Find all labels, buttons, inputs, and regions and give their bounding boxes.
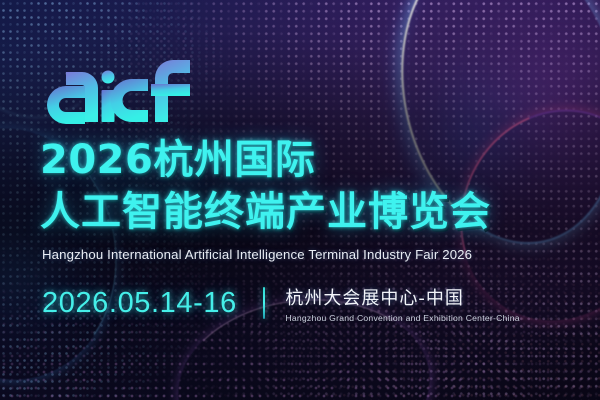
aicf-logo [44,46,196,124]
headline-block: 2026杭州国际 人工智能终端产业博览会 [40,134,570,238]
venue-name-en: Hangzhou Grand Convention and Exhibition… [285,313,519,323]
venue-block: 杭州大会展中心-中国 Hangzhou Grand Convention and… [285,284,519,323]
vertical-divider [263,287,266,319]
logo-letter-c [111,79,149,122]
event-poster: 2026杭州国际 人工智能终端产业博览会 Hangzhou Internatio… [0,0,600,400]
english-subtitle: Hangzhou International Artificial Intell… [42,247,472,262]
venue-name-cn: 杭州大会展中心-中国 [285,284,519,310]
headline-line-1: 2026杭州国际 [40,134,570,186]
event-date: 2026.05.14-16 [42,287,237,320]
logo-letter-f [151,60,190,122]
headline-line-2: 人工智能终端产业博览会 [40,186,570,238]
logo-letter-a [47,72,98,124]
poster-content: 2026杭州国际 人工智能终端产业博览会 Hangzhou Internatio… [0,0,600,400]
date-venue-row: 2026.05.14-16 杭州大会展中心-中国 Hangzhou Grand … [42,281,520,325]
